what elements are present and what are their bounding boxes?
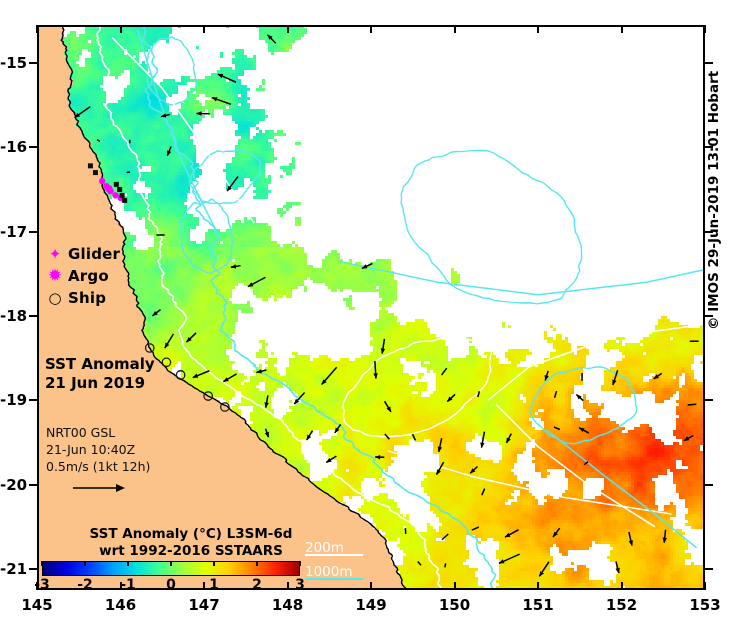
provenance-timestamp: 21-Jun 10:40Z — [46, 441, 150, 458]
glider-marker-icon: ✦ — [42, 247, 68, 262]
colorbar-title-line1: SST Anomaly (°C) L3SM-6d — [63, 526, 319, 543]
y-axis-tick — [29, 62, 37, 64]
y-axis-tick — [29, 568, 37, 570]
colorbar-tick — [170, 561, 172, 566]
bathymetry-swatch-200m — [305, 554, 363, 556]
y-axis-tick-label: -18 — [0, 307, 27, 325]
x-axis-tick-label: 152 — [592, 596, 652, 614]
x-axis-tick — [370, 25, 372, 33]
colorbar-tick-label: 2 — [237, 577, 277, 593]
colorbar-tick — [127, 561, 129, 566]
legend-item-argo[interactable]: ✹ Argo — [42, 265, 120, 287]
x-axis-tick — [621, 582, 623, 590]
x-axis-tick-label: 148 — [258, 596, 318, 614]
legend-item-ship[interactable]: ○ Ship — [42, 287, 120, 309]
x-axis-tick-label: 151 — [508, 596, 568, 614]
map-title-line2: 21 Jun 2019 — [45, 374, 155, 393]
colorbar-title: SST Anomaly (°C) L3SM-6d wrt 1992-2016 S… — [63, 526, 319, 560]
x-axis-tick — [621, 25, 623, 33]
provenance-product: NRT00 GSL — [46, 424, 150, 441]
y-axis-tick — [705, 484, 713, 486]
vector-scale-arrow-icon — [72, 481, 128, 495]
sst-anomaly-field — [37, 25, 705, 590]
map-plot-area[interactable] — [37, 25, 705, 590]
colorbar-tick-label: 1 — [194, 577, 234, 593]
x-axis-tick-label: 147 — [174, 596, 234, 614]
y-axis-tick-label: -19 — [0, 391, 27, 409]
provenance-scale: 0.5m/s (1kt 12h) — [46, 458, 150, 475]
x-axis-tick — [537, 582, 539, 590]
legend-item-glider[interactable]: ✦ Glider — [42, 243, 120, 265]
legend-label-glider: Glider — [68, 245, 120, 263]
y-axis-tick-label: -20 — [0, 476, 27, 494]
colorbar-tick — [299, 561, 301, 566]
provenance-block: NRT00 GSL 21-Jun 10:40Z 0.5m/s (1kt 12h) — [46, 424, 150, 475]
colorbar-tick — [213, 561, 215, 566]
x-axis-tick — [120, 25, 122, 33]
y-axis-tick — [29, 484, 37, 486]
y-axis-tick — [29, 231, 37, 233]
x-axis-tick — [704, 25, 706, 33]
y-axis-tick — [705, 231, 713, 233]
x-axis-tick-label: 149 — [341, 596, 401, 614]
colorbar-tick-label: -3 — [22, 577, 62, 593]
x-axis-tick — [537, 25, 539, 33]
y-axis-tick — [29, 399, 37, 401]
y-axis-tick-label: -16 — [0, 138, 27, 156]
x-axis-tick-label: 153 — [675, 596, 735, 614]
platform-legend: ✦ Glider ✹ Argo ○ Ship — [42, 243, 120, 309]
colorbar-tick-label: 0 — [151, 577, 191, 593]
x-axis-tick — [36, 25, 38, 33]
x-axis-tick — [203, 25, 205, 33]
x-axis-tick — [287, 25, 289, 33]
colorbar-tick — [84, 561, 86, 566]
y-axis-tick-label: -21 — [0, 560, 27, 578]
figure-root: ✦ Glider ✹ Argo ○ Ship SST Anomaly 21 Ju… — [0, 0, 741, 634]
y-axis-tick-label: -17 — [0, 223, 27, 241]
legend-label-argo: Argo — [68, 267, 109, 285]
y-axis-tick — [705, 315, 713, 317]
x-axis-tick-label: 146 — [91, 596, 151, 614]
y-axis-tick — [705, 146, 713, 148]
ship-marker-icon: ○ — [42, 291, 68, 306]
x-axis-tick — [454, 582, 456, 590]
colorbar-tick-label: 3 — [280, 577, 320, 593]
legend-label-ship: Ship — [68, 289, 106, 307]
bathymetry-item-200m: 200m — [305, 537, 353, 561]
x-axis-tick-label: 145 — [7, 596, 67, 614]
credit-text: © IMOS 29-Jun-2019 13:01 Hobart — [706, 50, 722, 330]
argo-marker-icon: ✹ — [42, 268, 68, 285]
x-axis-tick — [370, 582, 372, 590]
colorbar-tick — [256, 561, 258, 566]
x-axis-tick — [704, 582, 706, 590]
colorbar-tick — [41, 561, 43, 566]
y-axis-tick — [705, 568, 713, 570]
x-axis-tick — [454, 25, 456, 33]
y-axis-tick-label: -15 — [0, 54, 27, 72]
y-axis-tick — [29, 315, 37, 317]
y-axis-tick — [705, 62, 713, 64]
map-title: SST Anomaly 21 Jun 2019 — [45, 355, 155, 393]
x-axis-tick-label: 150 — [425, 596, 485, 614]
y-axis-tick — [29, 146, 37, 148]
colorbar-tick-label: -1 — [108, 577, 148, 593]
map-title-line1: SST Anomaly — [45, 355, 155, 374]
colorbar-title-line2: wrt 1992-2016 SSTAARS — [63, 543, 319, 560]
colorbar-tick-label: -2 — [65, 577, 105, 593]
y-axis-tick — [705, 399, 713, 401]
